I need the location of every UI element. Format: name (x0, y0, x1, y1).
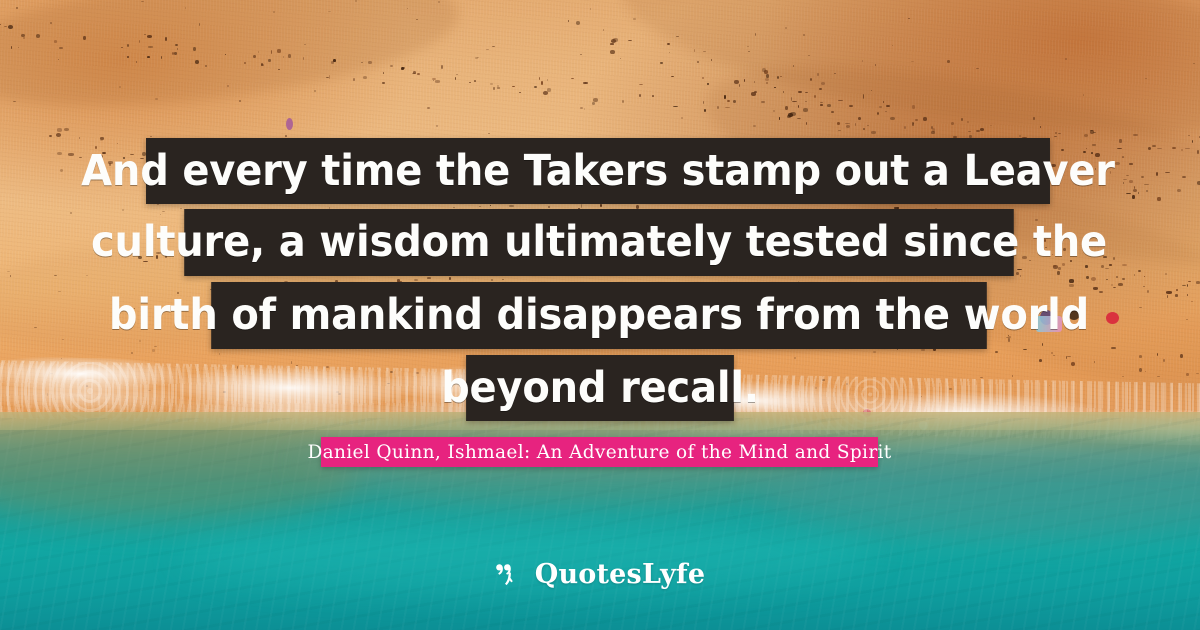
sand-speck (64, 128, 69, 131)
sand-speck (172, 52, 174, 55)
sand-speck (821, 82, 826, 85)
sand-speck (871, 131, 876, 134)
sand-speck (1122, 156, 1125, 158)
sand-speck (961, 118, 963, 121)
sand-speck (639, 94, 641, 97)
sand-speck (1083, 94, 1084, 96)
sand-speck (995, 351, 998, 353)
sand-speck (539, 77, 540, 80)
sand-speck (580, 107, 583, 110)
sand-speck (148, 46, 153, 48)
sand-speck (931, 126, 933, 129)
sand-speck (1166, 291, 1171, 293)
sand-speck (271, 50, 273, 54)
beach-umbrella (1106, 312, 1119, 324)
sand-speck (911, 61, 914, 63)
sand-speck (753, 125, 756, 127)
sand-speck (477, 57, 479, 58)
sand-speck (1129, 180, 1133, 183)
sand-speck (660, 62, 664, 64)
quote-line-4: beyond recall. (466, 355, 734, 421)
sand-speck (11, 46, 13, 49)
sand-speck (1163, 359, 1166, 361)
sand-speck (353, 78, 355, 81)
sand-speck (1193, 63, 1195, 64)
sand-speck (592, 102, 596, 105)
sand-speck (50, 22, 51, 24)
sand-speck (976, 130, 980, 133)
sand-speck (951, 122, 954, 125)
sand-speck (1119, 139, 1121, 142)
sand-speck (534, 86, 537, 88)
sand-speck (733, 100, 736, 103)
sand-speck (1053, 355, 1056, 356)
sand-speck (54, 275, 57, 276)
sand-speck (100, 140, 103, 141)
sand-speck (10, 275, 11, 277)
sand-speck (54, 40, 58, 43)
sand-speck (147, 35, 152, 38)
sand-speck (1132, 195, 1135, 199)
sand-speck (794, 357, 796, 359)
sand-speck (867, 125, 869, 126)
sand-speck (967, 121, 969, 123)
sand-speck (785, 27, 787, 29)
sand-speck (639, 84, 643, 85)
sand-speck (152, 349, 155, 352)
sand-speck (1157, 197, 1160, 201)
sand-speck (382, 82, 385, 84)
sand-speck (512, 86, 514, 87)
sand-speck (368, 61, 371, 64)
sand-speck (490, 83, 493, 84)
sand-speck (432, 78, 435, 81)
sand-speck (427, 107, 430, 110)
sand-speck (1105, 268, 1109, 269)
sand-speck (1175, 294, 1178, 297)
sand-speck (57, 128, 62, 131)
sand-speck (62, 339, 64, 340)
sand-speck (253, 55, 256, 58)
sand-speck (912, 122, 914, 126)
sand-speck (56, 133, 61, 137)
sand-speck (23, 37, 25, 39)
sand-speck (497, 87, 501, 88)
sand-speck (886, 105, 890, 107)
sand-speck (1058, 267, 1060, 270)
sand-speck (703, 51, 706, 53)
sand-speck (86, 275, 88, 276)
sand-speck (1111, 284, 1113, 286)
sand-speck (127, 44, 129, 47)
sand-speck (1197, 150, 1199, 154)
sand-speck (931, 131, 935, 134)
sand-speck (277, 49, 281, 53)
sand-speck (304, 44, 305, 45)
sand-speck (121, 47, 124, 49)
beach-person (286, 118, 293, 130)
sand-speck (890, 117, 895, 121)
sand-speck (777, 76, 779, 79)
sand-speck (1181, 149, 1183, 150)
sand-speck (268, 59, 271, 63)
sand-speck (1065, 58, 1067, 60)
sand-speck (541, 81, 543, 84)
sand-speck (871, 90, 872, 91)
sand-speck (70, 212, 72, 214)
sand-speck (1117, 148, 1122, 149)
sand-speck (497, 85, 499, 87)
sand-speck (441, 65, 443, 69)
sand-speck (1138, 192, 1140, 194)
sand-speck (1069, 279, 1074, 282)
sand-speck (219, 353, 220, 354)
sand-speck (879, 106, 882, 108)
sand-speck (1094, 361, 1095, 363)
sand-speck (414, 279, 418, 281)
sand-speck (798, 105, 799, 108)
sand-speck (1133, 134, 1138, 136)
sand-speck (1186, 319, 1188, 320)
sand-speck (652, 95, 654, 97)
sand-speck (704, 109, 706, 112)
logo-text: QuotesLyfe (535, 559, 706, 590)
sand-speck (803, 108, 808, 112)
site-logo[interactable]: QuotesLyfe (0, 556, 1200, 592)
sand-speck (921, 349, 925, 350)
sand-speck (610, 43, 613, 45)
sand-speck (1147, 290, 1149, 293)
sand-speck (1033, 117, 1035, 119)
sand-speck (667, 43, 670, 46)
sand-speck (1115, 162, 1120, 165)
sand-speck (817, 73, 819, 75)
sand-speck (1180, 354, 1183, 358)
sand-speck (239, 100, 241, 102)
sand-speck (435, 80, 440, 83)
sand-speck (79, 137, 81, 139)
sand-speck (154, 346, 157, 347)
sand-speck (780, 76, 782, 78)
sand-speck (1118, 283, 1123, 286)
sand-speck (162, 211, 165, 212)
sand-speck (761, 101, 765, 103)
sand-speck (0, 24, 1, 25)
sand-speck (837, 122, 840, 126)
sand-speck (1134, 274, 1135, 276)
sand-speck (16, 7, 18, 9)
sand-speck (831, 111, 834, 113)
sand-speck (862, 60, 863, 62)
sand-speck (803, 34, 805, 36)
sand-speck (877, 112, 879, 115)
sand-speck (766, 74, 769, 78)
sand-speck (571, 78, 574, 79)
sand-speck (427, 277, 431, 279)
sand-speck (1067, 356, 1071, 357)
sand-speck (1196, 281, 1199, 284)
sand-speck (806, 122, 807, 125)
sand-speck (755, 33, 756, 36)
sand-speck (633, 18, 636, 20)
sand-speck (474, 80, 476, 82)
sand-speck (285, 135, 287, 137)
sand-speck (613, 38, 618, 41)
sand-speck (488, 133, 490, 135)
sand-speck (779, 117, 781, 119)
sand-speck (820, 104, 823, 106)
sand-speck (1122, 376, 1124, 377)
sand-speck (622, 100, 624, 103)
sand-speck (548, 206, 550, 208)
sand-speck (838, 100, 843, 101)
sand-speck (1129, 163, 1132, 164)
sand-speck (603, 29, 604, 31)
sand-speck (912, 105, 915, 108)
quote-line-3: birth of mankind disappears from the wor… (211, 282, 987, 349)
sand-speck (819, 88, 821, 90)
sand-speck (798, 91, 802, 93)
sand-speck (355, 0, 357, 2)
sand-speck (174, 52, 177, 55)
sand-speck (1139, 355, 1142, 358)
sand-speck (610, 50, 615, 54)
sand-speck (288, 54, 291, 58)
sand-speck (401, 67, 404, 70)
sand-speck (583, 82, 588, 84)
sand-speck (479, 206, 481, 207)
sand-speck (805, 92, 808, 93)
sand-speck (707, 83, 709, 85)
sand-speck (785, 106, 788, 110)
sand-speck (885, 111, 886, 112)
sand-speck (1090, 130, 1094, 134)
quote-line-1: And every time the Takers stamp out a Le… (146, 138, 1050, 204)
sand-speck (838, 130, 841, 132)
sand-speck (1016, 272, 1019, 275)
sand-speck (858, 117, 861, 120)
quote-card: And every time the Takers stamp out a Le… (0, 0, 1200, 630)
sand-speck (261, 64, 265, 66)
sand-speck (1113, 257, 1115, 260)
sand-speck (144, 34, 146, 35)
sand-speck (363, 76, 367, 79)
sand-speck (58, 291, 61, 293)
sand-speck (923, 117, 927, 121)
sand-speck (717, 106, 719, 109)
attribution-band: Daniel Quinn, Ishmael: An Adventure of t… (321, 437, 878, 467)
sand-speck (727, 100, 730, 102)
sand-speck (161, 56, 162, 59)
sand-speck (1093, 287, 1098, 290)
sand-speck (1113, 287, 1116, 288)
sand-speck (703, 101, 704, 104)
sand-speck (1106, 279, 1108, 280)
sand-speck (139, 40, 140, 43)
sand-speck (1152, 145, 1156, 147)
sand-speck (68, 153, 73, 156)
sand-speck (863, 94, 864, 98)
sand-speck (947, 60, 950, 63)
sand-speck (1191, 301, 1193, 303)
sand-speck (1186, 373, 1189, 376)
sand-speck (59, 47, 62, 49)
sand-speck (1091, 277, 1097, 281)
sand-speck (165, 37, 167, 40)
sand-speck (980, 128, 984, 131)
quote-mark-icon (495, 559, 525, 589)
sand-speck (83, 36, 86, 40)
sand-speck (1139, 368, 1142, 372)
sand-speck (328, 11, 331, 12)
quote-line-2: culture, a wisdom ultimately tested sinc… (184, 209, 1014, 276)
sand-speck (1069, 284, 1074, 287)
sand-speck (1054, 136, 1056, 137)
sand-speck (1086, 276, 1089, 279)
sand-speck (160, 214, 161, 215)
sand-speck (60, 169, 63, 172)
sand-speck (1057, 271, 1060, 275)
